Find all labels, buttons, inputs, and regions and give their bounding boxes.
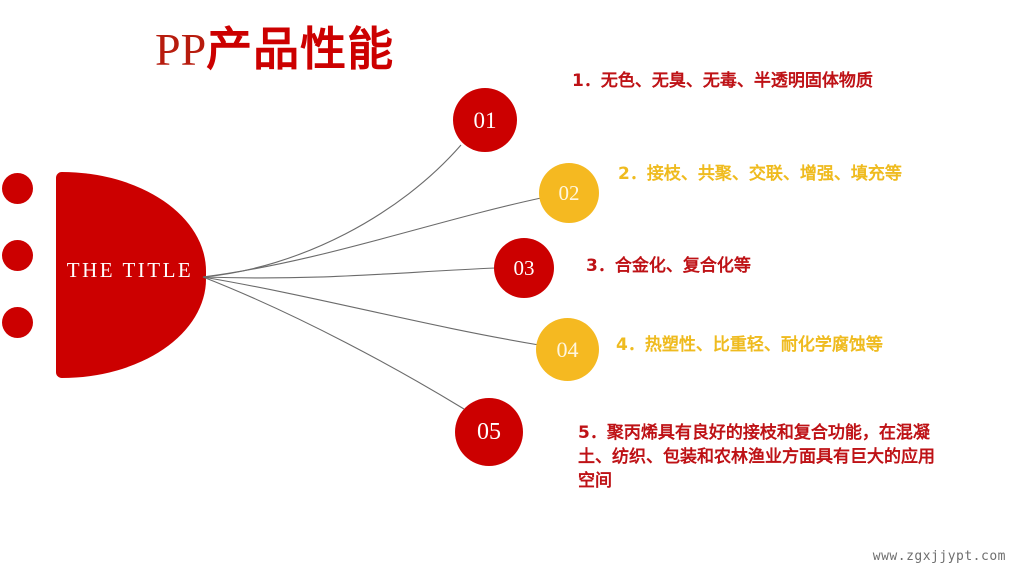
node-circle-05-label: 05 bbox=[477, 420, 501, 444]
connector-line-01 bbox=[203, 145, 461, 277]
site-watermark: www.zgxjjypt.com bbox=[873, 549, 1006, 564]
page-title: PP产品性能 bbox=[155, 26, 394, 73]
connector-line-03 bbox=[203, 268, 496, 278]
slide-canvas: PP产品性能 THE TITLE 01 02 03 04 05 1．无色、无臭、… bbox=[0, 0, 1024, 576]
node-circle-04[interactable]: 04 bbox=[536, 318, 599, 381]
decorative-dot-2 bbox=[2, 240, 33, 271]
node-circle-05[interactable]: 05 bbox=[455, 398, 523, 466]
hub-title-label: THE TITLE bbox=[60, 258, 200, 283]
page-title-cjk: 产品性能 bbox=[206, 22, 394, 76]
item-text-02: 2．接枝、共聚、交联、增强、填充等 bbox=[618, 162, 948, 186]
item-text-04: 4．热塑性、比重轻、耐化学腐蚀等 bbox=[616, 333, 946, 357]
item-text-03: 3．合金化、复合化等 bbox=[586, 254, 946, 278]
node-circle-03[interactable]: 03 bbox=[494, 238, 554, 298]
connector-line-04 bbox=[203, 277, 539, 345]
item-text-01: 1．无色、无臭、无毒、半透明固体物质 bbox=[572, 69, 942, 93]
item-text-05: 5．聚丙烯具有良好的接枝和复合功能，在混凝土、纺织、包装和农林渔业方面具有巨大的… bbox=[578, 421, 950, 493]
node-circle-03-label: 03 bbox=[514, 258, 535, 279]
connector-line-02 bbox=[203, 198, 541, 277]
node-circle-02[interactable]: 02 bbox=[539, 163, 599, 223]
node-circle-01-label: 01 bbox=[474, 109, 497, 132]
decorative-dot-1 bbox=[2, 173, 33, 204]
decorative-dot-3 bbox=[2, 307, 33, 338]
connector-line-05 bbox=[203, 277, 464, 409]
node-circle-02-label: 02 bbox=[559, 183, 580, 204]
page-title-latin: PP bbox=[155, 24, 206, 75]
node-circle-01[interactable]: 01 bbox=[453, 88, 517, 152]
node-circle-04-label: 04 bbox=[557, 339, 579, 361]
